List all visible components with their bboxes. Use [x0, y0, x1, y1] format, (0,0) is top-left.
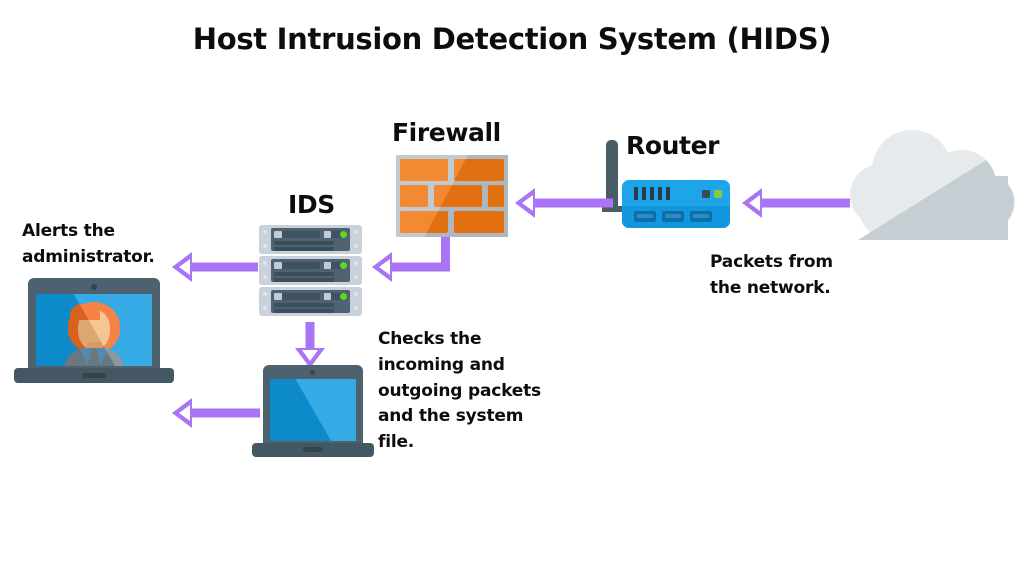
laptop-camera-icon [310, 370, 315, 375]
laptop-trackpad [303, 447, 323, 452]
annotation-checks: Checks the incoming and outgoing packets… [378, 327, 578, 456]
annotation-packets-line2: the network. [710, 276, 910, 302]
server-unit [259, 256, 362, 285]
annotation-packets: Packets from the network. [710, 250, 910, 302]
laptop-screen [270, 379, 356, 441]
router-label: Router [626, 131, 719, 160]
arrow-ids-to-host [295, 322, 325, 368]
server-status-led [340, 293, 347, 300]
page-title: Host Intrusion Detection System (HIDS) [0, 22, 1024, 56]
server-unit [259, 225, 362, 254]
annotation-alerts-line2: administrator. [22, 245, 222, 271]
server-stack-icon [259, 225, 362, 315]
firewall-label: Firewall [392, 118, 501, 147]
laptop-trackpad [82, 373, 106, 378]
annotation-checks-line1: Checks the [378, 327, 578, 353]
server-unit [259, 287, 362, 316]
router-status-led-grey [702, 190, 710, 198]
annotation-checks-line2: incoming and [378, 353, 578, 379]
laptop-icon [252, 365, 374, 463]
arrow-cloud-to-router [742, 188, 850, 218]
annotation-alerts-line1: Alerts the [22, 219, 222, 245]
diagram-canvas: Host Intrusion Detection System (HIDS) [0, 0, 1024, 576]
annotation-alerts: Alerts the administrator. [22, 219, 222, 271]
arrow-router-to-firewall [515, 188, 613, 218]
arrow-firewall-to-ids [372, 252, 450, 282]
cloud-icon [850, 130, 1015, 240]
router-status-led-green [714, 190, 722, 198]
laptop-camera-icon [91, 284, 97, 290]
annotation-checks-line5: file. [378, 430, 578, 456]
ids-label: IDS [288, 190, 335, 219]
laptop-with-user-icon [14, 278, 174, 388]
annotation-checks-line4: and the system [378, 404, 578, 430]
laptop-screen [36, 294, 152, 366]
server-status-led [340, 231, 347, 238]
firewall-brick-wall-icon [396, 155, 508, 237]
avatar-body [64, 348, 124, 366]
annotation-packets-line1: Packets from [710, 250, 910, 276]
server-status-led [340, 262, 347, 269]
arrow-host-to-admin [172, 398, 260, 428]
annotation-checks-line3: outgoing packets [378, 379, 578, 405]
